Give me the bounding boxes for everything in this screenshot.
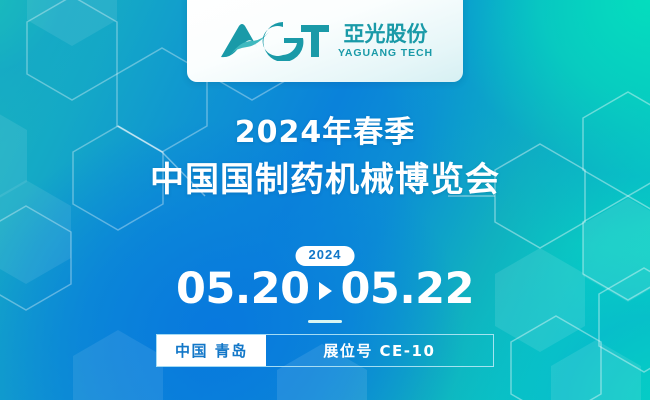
agt-logo-icon [217, 21, 329, 61]
date-range: 05.20 05.22 [0, 268, 650, 311]
year-badge: 2024 [296, 246, 355, 266]
date-end: 05.22 [341, 268, 475, 311]
company-logo-panel: 亞光股份 YAGUANG TECH [187, 0, 463, 82]
footer-booth-number: 展位号 CE-10 [266, 335, 493, 366]
footer-location: 中国 青岛 [157, 335, 266, 366]
exhibition-banner: 亞光股份 YAGUANG TECH 2024年春季 中国国制药机械博览会 202… [0, 0, 650, 400]
footer-bar: 中国 青岛 展位号 CE-10 [156, 334, 494, 367]
logo-company-name-en: YAGUANG TECH [338, 48, 433, 59]
play-arrow-icon [319, 282, 332, 300]
date-underline-rule [308, 320, 342, 323]
date-start: 05.20 [176, 268, 310, 311]
logo-company-name-cn: 亞光股份 [343, 24, 427, 45]
headline-line-1: 2024年春季 [0, 118, 650, 149]
headline-line-2: 中国国制药机械博览会 [0, 163, 650, 198]
headline-block: 2024年春季 中国国制药机械博览会 [0, 118, 650, 197]
